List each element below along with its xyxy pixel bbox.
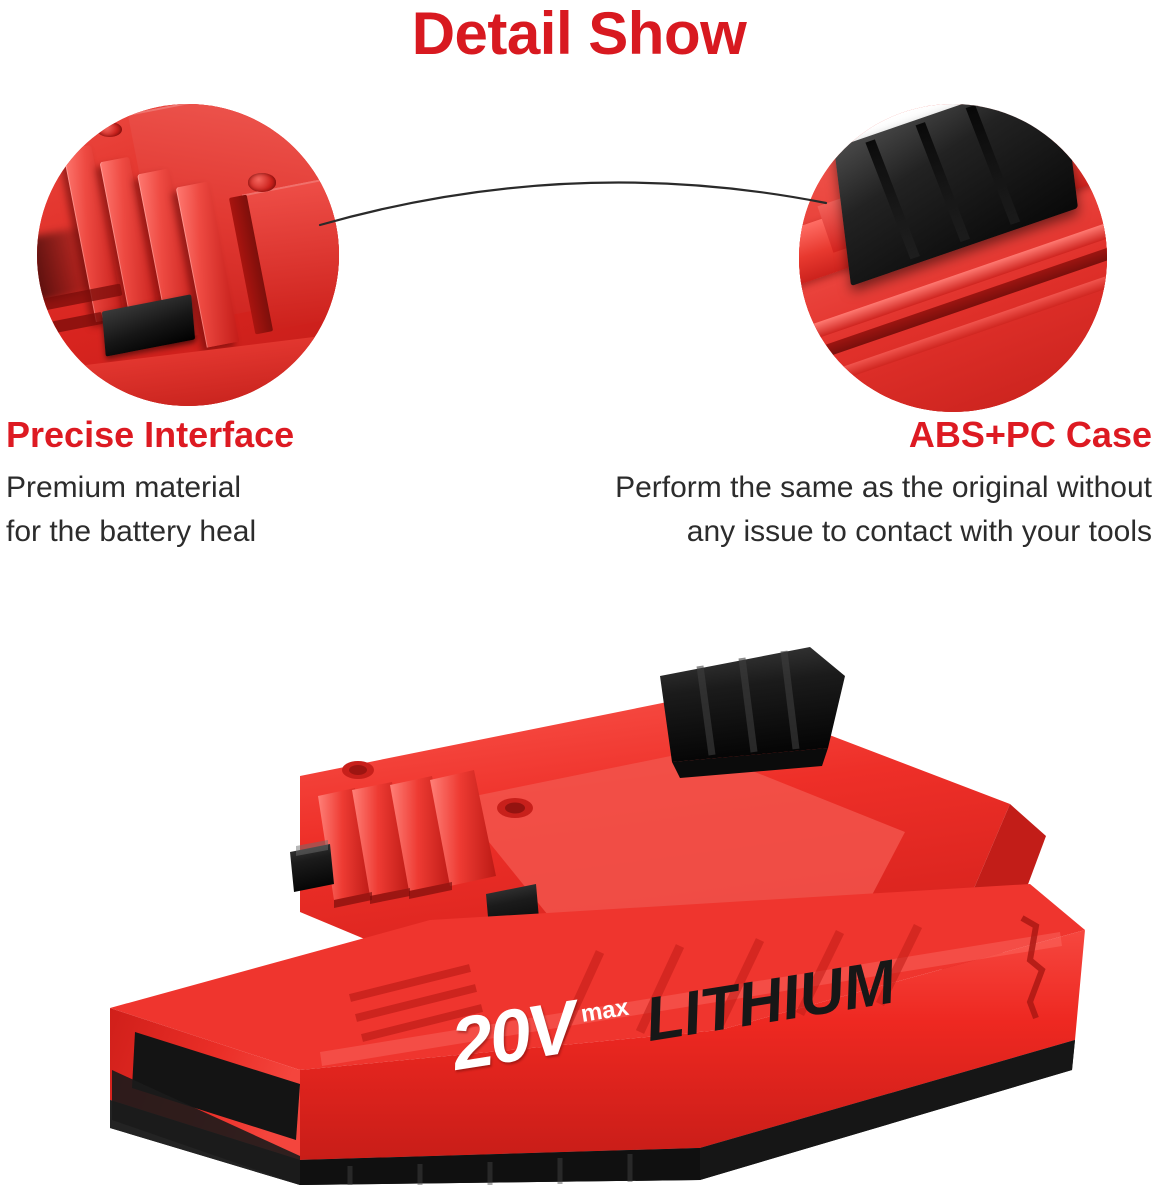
terminal-slot	[865, 140, 919, 260]
feature-body-line: for the battery heal	[6, 510, 256, 554]
terminal-slot	[915, 123, 969, 243]
callout-circle-abs-pc-case	[799, 104, 1107, 412]
feature-body-line: Premium material	[6, 466, 256, 510]
battery-product-image	[0, 600, 1158, 1185]
product-detail-page: Detail Show Precis	[0, 0, 1158, 1185]
page-title: Detail Show	[0, 2, 1158, 66]
screw-recess-icon	[248, 173, 275, 191]
feature-heading-precise-interface: Precise Interface	[6, 414, 294, 456]
feature-body-line: any issue to contact with your tools	[615, 510, 1152, 554]
curved-connector-line-icon	[318, 165, 828, 280]
black-terminal-block	[660, 647, 845, 778]
feature-body-abs-pc-case: Perform the same as the original without…	[615, 466, 1152, 554]
screw-recess-icon	[97, 122, 121, 137]
voltage-label: 20V	[446, 990, 579, 1082]
terminal-slot	[965, 106, 1019, 226]
feature-body-line: Perform the same as the original without	[615, 466, 1152, 510]
feature-heading-abs-pc-case: ABS+PC Case	[909, 414, 1152, 456]
callout-circle-precise-interface	[37, 104, 339, 406]
feature-body-precise-interface: Premium material for the battery heal	[6, 466, 256, 554]
